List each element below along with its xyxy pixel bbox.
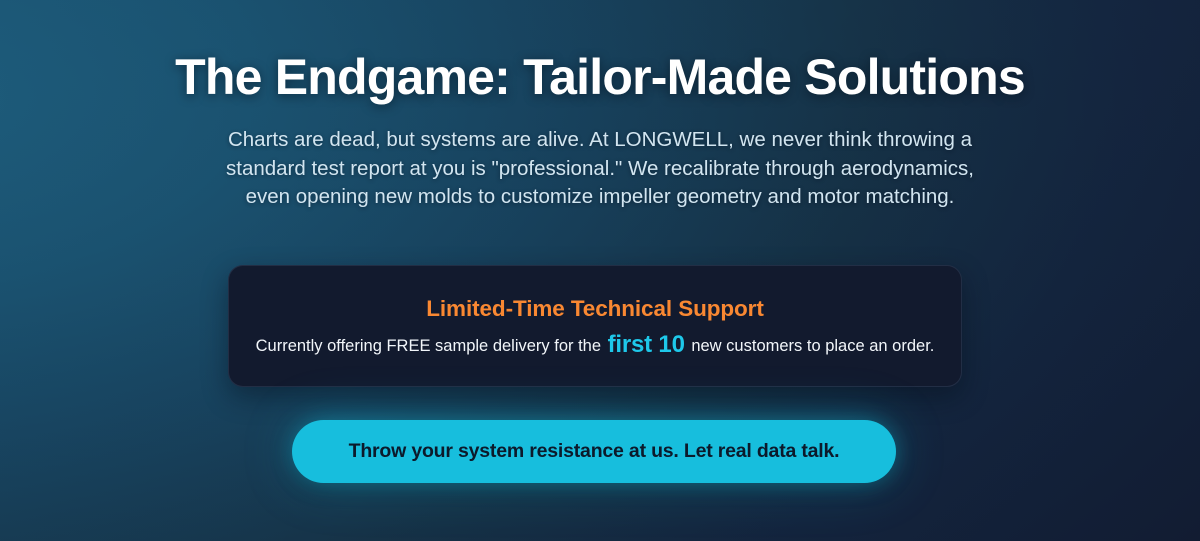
hero-section: The Endgame: Tailor-Made Solutions Chart… — [0, 0, 1200, 541]
page-title: The Endgame: Tailor-Made Solutions — [0, 48, 1200, 106]
promo-card: Limited-Time Technical Support Currently… — [228, 265, 962, 387]
promo-body-prefix: Currently offering FREE sample delivery … — [256, 337, 601, 355]
section-description: Charts are dead, but systems are alive. … — [215, 126, 985, 212]
promo-card-body: Currently offering FREE sample delivery … — [256, 334, 935, 357]
promo-card-title: Limited-Time Technical Support — [426, 296, 763, 322]
hero-content: The Endgame: Tailor-Made Solutions Chart… — [0, 0, 1200, 541]
cta-button[interactable]: Throw your system resistance at us. Let … — [292, 420, 896, 483]
promo-body-suffix: new customers to place an order. — [691, 337, 934, 355]
promo-highlight-count: first 10 — [606, 331, 687, 358]
